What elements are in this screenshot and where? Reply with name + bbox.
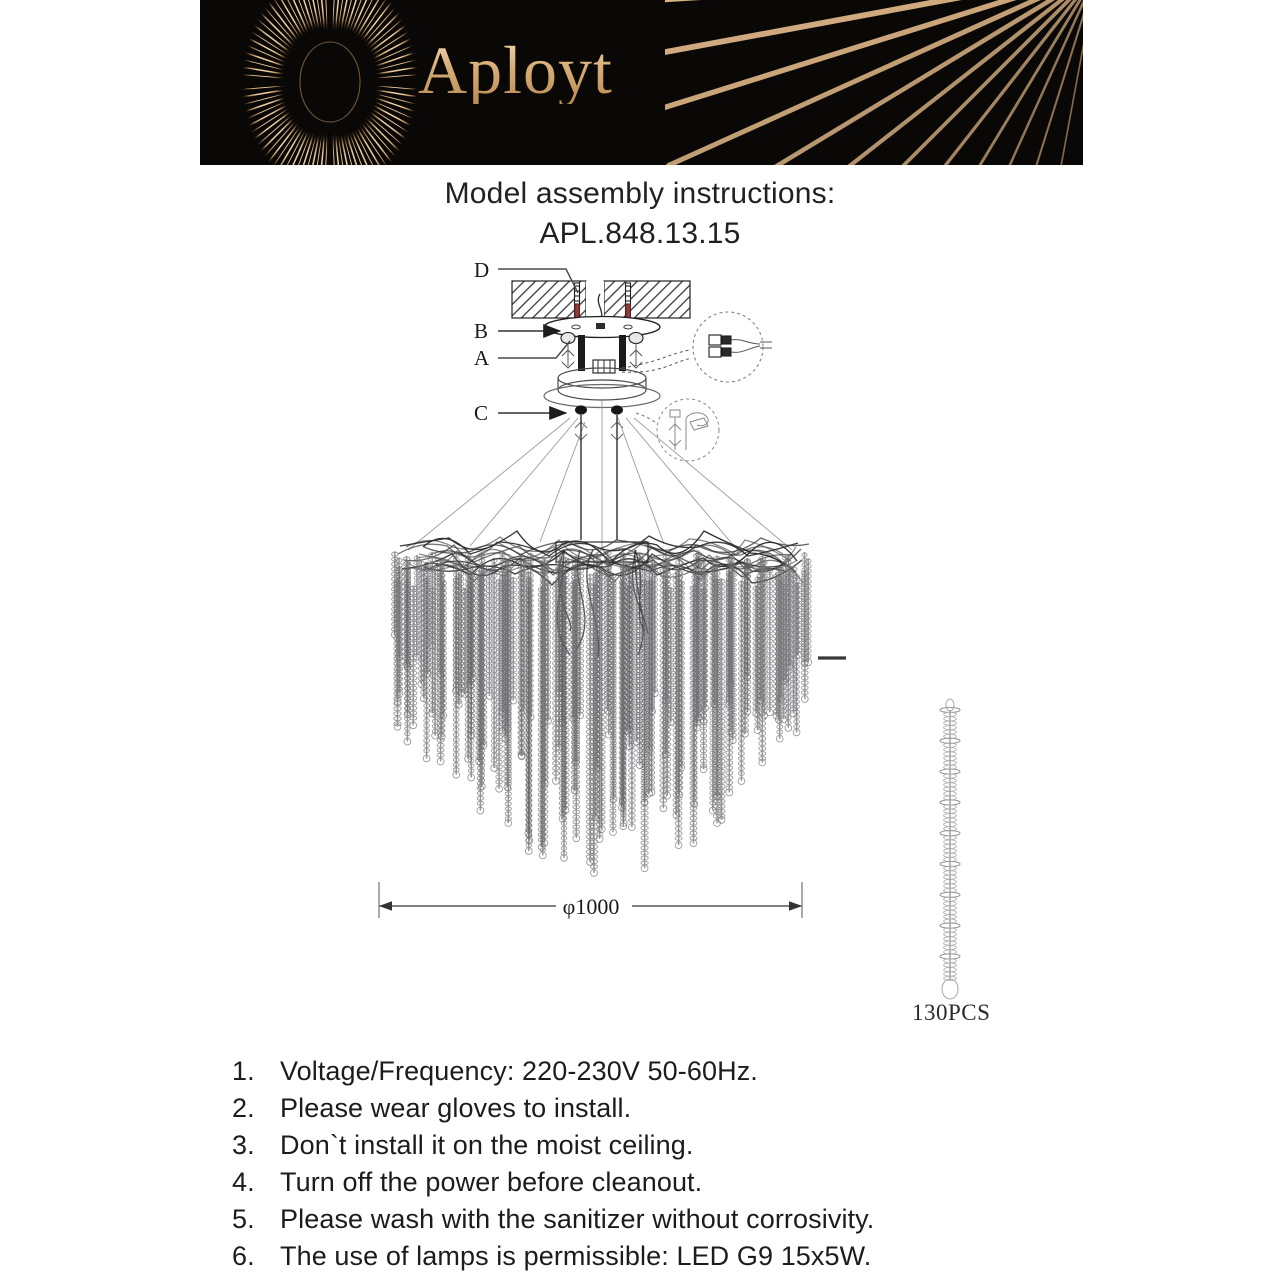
radial-rays-icon — [665, 0, 1083, 165]
note-text: Please wear gloves to install. — [280, 1093, 1232, 1124]
part-count-label: 130PCS — [912, 1000, 990, 1026]
callout-label-b: B — [474, 319, 488, 343]
brand-wordmark: Aployt — [418, 36, 613, 104]
callout-label-c: C — [474, 401, 488, 425]
crystal-rod-icon — [940, 699, 960, 999]
suspension-cables — [408, 400, 792, 550]
note-text: Turn off the power before cleanout. — [280, 1167, 1232, 1198]
suspension-wires — [581, 415, 617, 540]
chandelier-icon — [391, 531, 811, 876]
dimension-line: φ1000 — [379, 882, 802, 919]
note-number: 1. — [232, 1056, 280, 1087]
note-item: 4. Turn off the power before cleanout. — [232, 1167, 1232, 1204]
note-text: The use of lamps is permissible: LED G9 … — [280, 1241, 1232, 1272]
note-text: Please wash with the sanitizer without c… — [280, 1204, 1232, 1235]
note-item: 3. Don`t install it on the moist ceiling… — [232, 1130, 1232, 1167]
suspension-hook-group — [575, 405, 623, 440]
callout-labels: D B A C — [474, 258, 490, 425]
note-number: 6. — [232, 1241, 280, 1272]
note-text: Don`t install it on the moist ceiling. — [280, 1130, 1232, 1161]
assembly-diagram: D B A C — [0, 250, 1280, 1050]
callout-label-a: A — [474, 346, 490, 370]
page-title: Model assembly instructions: APL.848.13.… — [0, 174, 1280, 254]
note-number: 4. — [232, 1167, 280, 1198]
note-number: 2. — [232, 1093, 280, 1124]
note-number: 3. — [232, 1130, 280, 1161]
brand-banner: Aployt — [200, 0, 1083, 165]
dimension-label: φ1000 — [563, 894, 620, 919]
callout-label-d: D — [474, 258, 489, 282]
note-item: 1. Voltage/Frequency: 220-230V 50-60Hz. — [232, 1056, 1232, 1093]
note-text: Voltage/Frequency: 220-230V 50-60Hz. — [280, 1056, 1232, 1087]
sunburst-icon — [230, 0, 430, 165]
instruction-notes-list: 1. Voltage/Frequency: 220-230V 50-60Hz. … — [232, 1056, 1232, 1278]
note-item: 6. The use of lamps is permissible: LED … — [232, 1241, 1232, 1278]
note-item: 2. Please wear gloves to install. — [232, 1093, 1232, 1130]
mounting-plate — [544, 317, 660, 338]
note-item: 5. Please wash with the sanitizer withou… — [232, 1204, 1232, 1241]
instructions-title: Model assembly instructions: — [0, 174, 1280, 214]
model-code: APL.848.13.15 — [0, 214, 1280, 254]
note-number: 5. — [232, 1204, 280, 1235]
